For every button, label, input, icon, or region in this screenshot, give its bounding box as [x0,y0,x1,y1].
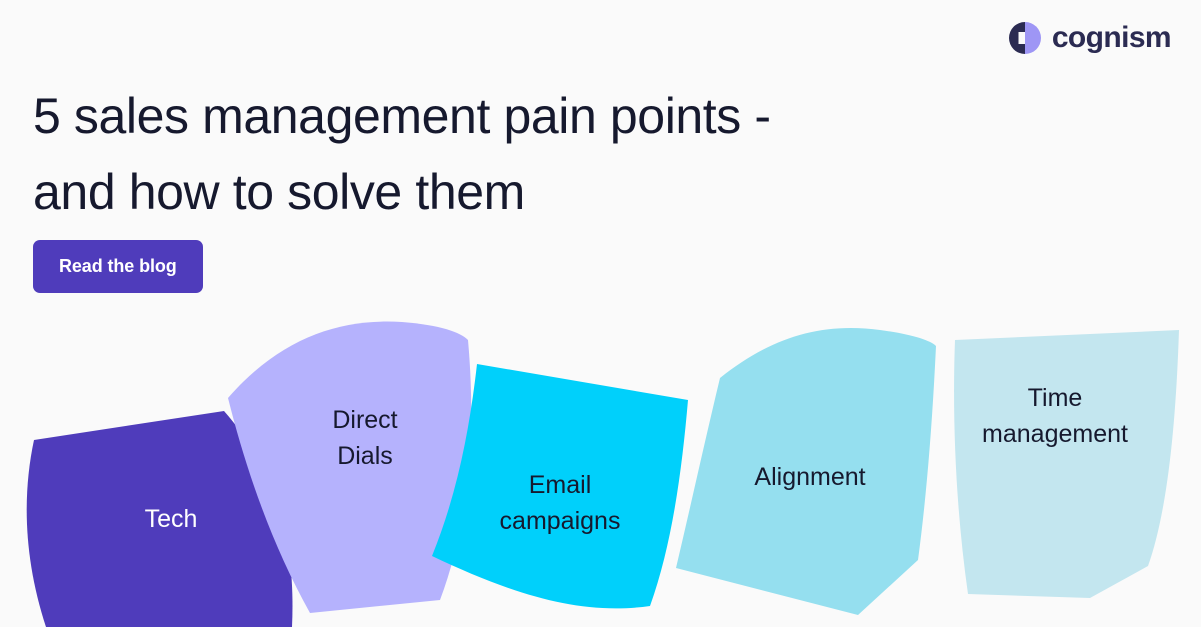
cognism-wordmark: cognism [1052,23,1171,53]
shape-direct-dials-path [228,322,471,613]
shape-direct-dials: DirectDials [228,322,471,613]
shape-alignment: Alignment [676,328,936,615]
cognism-circle-logo-icon [1009,22,1041,54]
logo-mark-light-half [1025,22,1041,54]
page-title: 5 sales management pain points - and how… [33,78,953,230]
shape-alignment-path [676,328,936,615]
shape-email-campaigns-path [432,364,688,608]
page-title-line-2: and how to solve them [33,154,953,230]
shape-time-management: Timemanagement [954,330,1179,598]
hero-banner: Tech DirectDials Emailcampaigns Alignmen… [0,0,1201,627]
logo-mark-dark-half [1009,22,1025,54]
read-the-blog-button[interactable]: Read the blog [33,240,203,293]
shape-email-campaigns-label: Emailcampaigns [500,471,621,535]
page-title-line-1: 5 sales management pain points - [33,78,953,154]
shape-tech-path [27,411,293,627]
shape-direct-dials-label: DirectDials [332,406,397,470]
shape-time-management-label: Timemanagement [982,384,1128,448]
shape-email-campaigns: Emailcampaigns [432,364,688,608]
shape-tech: Tech [27,411,293,627]
shape-tech-label: Tech [145,505,198,533]
cognism-logo[interactable]: cognism [1009,22,1171,54]
shape-time-management-path [954,330,1179,598]
shape-alignment-label: Alignment [754,463,865,491]
